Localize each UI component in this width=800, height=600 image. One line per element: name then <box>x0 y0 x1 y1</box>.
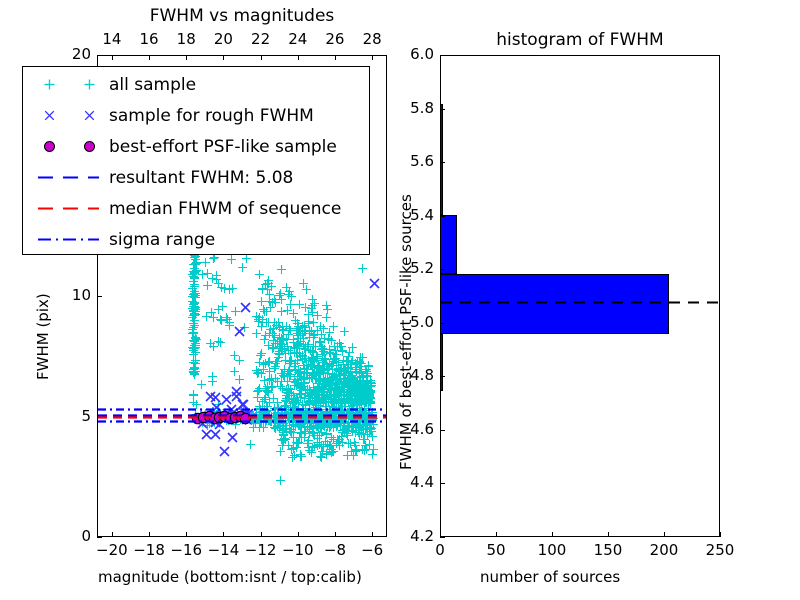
legend-marker-plus-marker <box>23 78 109 91</box>
data-point-all-sample <box>276 476 285 485</box>
data-point-all-sample <box>202 312 211 321</box>
data-point-all-sample <box>354 426 363 435</box>
data-point-all-sample <box>330 383 339 392</box>
data-point-all-sample <box>231 307 240 316</box>
data-point-all-sample <box>308 295 317 304</box>
data-point-all-sample <box>289 433 298 442</box>
data-point-all-sample <box>298 355 307 364</box>
data-point-all-sample <box>283 306 292 315</box>
scatter-title: FWHM vs magnitudes <box>97 6 387 26</box>
histogram-x-tick <box>496 532 497 537</box>
data-point-all-sample <box>296 390 305 399</box>
scatter-top-tick-label: 22 <box>248 30 274 48</box>
data-point-all-sample <box>230 351 239 360</box>
scatter-bottom-tick <box>298 532 299 537</box>
data-point-all-sample <box>315 382 324 391</box>
scatter-bottom-tick-label: −10 <box>280 541 316 559</box>
legend-label-2: best-effort PSF-like sample <box>109 137 337 157</box>
data-point-all-sample <box>352 446 361 455</box>
scatter-bottom-tick-label: −18 <box>131 541 167 559</box>
data-point-all-sample <box>265 290 274 299</box>
scatter-top-tick-label: 26 <box>322 30 348 48</box>
data-point-all-sample <box>279 371 288 380</box>
data-point-all-sample <box>252 329 261 338</box>
scatter-left-tick <box>97 296 102 297</box>
data-point-all-sample <box>197 380 206 389</box>
scatter-top-tick <box>372 55 373 60</box>
histogram-x-tick <box>664 532 665 537</box>
data-point-all-sample <box>225 321 234 330</box>
data-point-all-sample <box>368 432 377 441</box>
scatter-top-tick-label: 28 <box>359 30 385 48</box>
histogram-y-tick <box>440 376 445 377</box>
data-point-all-sample <box>295 300 304 309</box>
legend-label-0: all sample <box>109 75 196 95</box>
histogram-bar[interactable] <box>441 104 443 215</box>
scatter-left-tick-label: 5 <box>57 407 91 425</box>
histogram-y-tick-label: 6.0 <box>392 45 434 63</box>
scatter-bottom-tick-label: −6 <box>354 541 390 559</box>
data-point-all-sample <box>257 369 266 378</box>
histogram-y-tick <box>440 162 445 163</box>
scatter-bottom-tick <box>186 532 187 537</box>
data-point-all-sample <box>348 343 357 352</box>
histogram-y-tick-label: 4.4 <box>392 473 434 491</box>
data-point-all-sample <box>299 279 308 288</box>
legend-item-4[interactable]: median FHWM of sequence <box>23 193 369 224</box>
histogram-x-tick <box>552 532 553 537</box>
scatter-top-tick-label: 16 <box>136 30 162 48</box>
scatter-legend[interactable]: all samplesample for rough FWHMbest-effo… <box>22 66 370 255</box>
data-point-all-sample <box>333 342 342 351</box>
data-point-all-sample <box>322 313 331 322</box>
histogram-x-tick-label: 50 <box>476 541 516 559</box>
histogram-ylabel: FWHM of best-effort PSF-like sources <box>397 194 415 470</box>
scatter-top-tick <box>335 55 336 60</box>
histogram-y-tick <box>440 55 445 56</box>
data-point-all-sample <box>230 367 239 376</box>
scatter-bottom-tick <box>261 532 262 537</box>
data-point-all-sample <box>304 310 313 319</box>
histogram-xlabel: number of sources <box>480 568 620 586</box>
data-point-all-sample <box>209 342 218 351</box>
data-point-all-sample <box>314 374 323 383</box>
scatter-bottom-tick <box>223 532 224 537</box>
data-point-all-sample <box>228 284 237 293</box>
data-point-all-sample <box>322 301 331 310</box>
data-point-all-sample <box>313 441 322 450</box>
data-point-all-sample <box>252 312 261 321</box>
data-point-all-sample <box>334 366 343 375</box>
data-point-all-sample <box>324 364 333 373</box>
data-point-all-sample <box>208 372 217 381</box>
data-point-rough-fwhm <box>234 326 245 337</box>
data-point-all-sample <box>216 315 225 324</box>
scatter-top-tick-label: 20 <box>210 30 236 48</box>
data-point-all-sample <box>311 342 320 351</box>
histogram-y-tick <box>440 537 445 538</box>
data-point-all-sample <box>189 277 198 286</box>
scatter-bottom-tick-label: −8 <box>317 541 353 559</box>
scatter-top-tick <box>149 55 150 60</box>
data-point-all-sample <box>275 347 284 356</box>
figure-canvas: FWHM vs magnitudes 1416182022242628 −20−… <box>0 0 800 600</box>
legend-label-3: resultant FWHM: 5.08 <box>109 168 293 188</box>
data-point-all-sample <box>277 265 286 274</box>
histogram-x-tick-label: 100 <box>532 541 572 559</box>
legend-marker-circle-marker <box>23 140 109 153</box>
data-point-rough-fwhm <box>231 386 242 397</box>
scatter-left-tick-label: 0 <box>57 527 91 545</box>
scatter-left-tick-label: 20 <box>57 45 91 63</box>
data-point-all-sample <box>190 321 199 330</box>
scatter-top-tick <box>298 55 299 60</box>
histogram-x-tick-label: 150 <box>588 541 628 559</box>
data-point-all-sample <box>190 369 199 378</box>
scatter-hline-3 <box>98 420 386 423</box>
data-point-all-sample <box>329 322 338 331</box>
data-point-rough-fwhm <box>240 302 251 313</box>
scatter-top-tick <box>112 55 113 60</box>
data-point-all-sample <box>227 255 236 264</box>
histogram-y-tick <box>440 483 445 484</box>
legend-item-3[interactable]: resultant FWHM: 5.08 <box>23 162 369 193</box>
histogram-x-tick-label: 200 <box>644 541 684 559</box>
data-point-all-sample <box>320 334 329 343</box>
histogram-y-tick <box>440 269 445 270</box>
scatter-bottom-tick <box>372 532 373 537</box>
histogram-title: histogram of FWHM <box>440 30 720 50</box>
data-point-all-sample <box>265 329 274 338</box>
histogram-bar[interactable] <box>441 334 443 390</box>
data-point-all-sample <box>263 279 272 288</box>
data-point-all-sample <box>368 450 377 459</box>
data-point-all-sample <box>357 368 366 377</box>
data-point-all-sample <box>217 283 226 292</box>
data-point-all-sample <box>192 258 201 267</box>
scatter-xlabel: magnitude (bottom:isnt / top:calib) <box>98 568 362 586</box>
data-point-all-sample <box>201 258 210 267</box>
scatter-top-tick <box>186 55 187 60</box>
scatter-bottom-tick-label: −14 <box>205 541 241 559</box>
data-point-all-sample <box>285 388 294 397</box>
data-point-all-sample <box>301 342 310 351</box>
data-point-rough-fwhm <box>369 278 380 289</box>
legend-label-1: sample for rough FWHM <box>109 106 314 126</box>
legend-marker-dashdot-line <box>23 233 109 246</box>
data-point-all-sample <box>190 341 199 350</box>
histogram-bar[interactable] <box>441 274 669 334</box>
scatter-top-tick-label: 24 <box>285 30 311 48</box>
histogram-bar[interactable] <box>441 215 457 274</box>
data-point-all-sample <box>209 254 218 263</box>
scatter-hline-1 <box>98 416 386 419</box>
data-point-all-sample <box>281 356 290 365</box>
legend-item-5[interactable]: sigma range <box>23 224 369 255</box>
data-point-rough-fwhm <box>227 432 238 443</box>
data-point-all-sample <box>341 425 350 434</box>
scatter-bottom-tick <box>112 532 113 537</box>
data-point-all-sample <box>190 310 199 319</box>
scatter-left-tick <box>97 55 102 56</box>
data-point-all-sample <box>246 440 255 449</box>
data-point-all-sample <box>284 290 293 299</box>
data-point-all-sample <box>235 375 244 384</box>
scatter-top-tick-label: 18 <box>173 30 199 48</box>
data-point-all-sample <box>340 327 349 336</box>
data-point-all-sample <box>191 359 200 368</box>
data-point-all-sample <box>255 384 264 393</box>
data-point-rough-fwhm <box>219 446 230 457</box>
histogram-y-tick-label: 5.6 <box>392 152 434 170</box>
histogram-hline-0 <box>441 301 719 304</box>
data-point-all-sample <box>190 298 199 307</box>
histogram-y-tick <box>440 216 445 217</box>
legend-item-1[interactable]: sample for rough FWHM <box>23 100 369 131</box>
data-point-rough-fwhm <box>201 429 212 440</box>
legend-marker-dashed-line <box>23 171 109 184</box>
histogram-y-tick <box>440 109 445 110</box>
scatter-top-tick <box>261 55 262 60</box>
data-point-all-sample <box>364 385 373 394</box>
data-point-all-sample <box>296 452 305 461</box>
data-point-all-sample <box>189 398 198 407</box>
data-point-all-sample <box>298 329 307 338</box>
legend-label-5: sigma range <box>109 230 215 250</box>
data-point-all-sample <box>319 390 328 399</box>
scatter-top-tick <box>223 55 224 60</box>
scatter-left-tick-label: 10 <box>57 286 91 304</box>
data-point-all-sample <box>262 307 271 316</box>
histogram-x-tick-label: 250 <box>700 541 740 559</box>
legend-item-0[interactable]: all sample <box>23 69 369 100</box>
data-point-all-sample <box>305 429 314 438</box>
data-point-rough-fwhm <box>205 391 216 402</box>
data-point-all-sample <box>358 264 367 273</box>
data-point-all-sample <box>307 327 316 336</box>
scatter-bottom-tick <box>149 532 150 537</box>
scatter-bottom-tick-label: −12 <box>243 541 279 559</box>
data-point-all-sample <box>282 335 291 344</box>
scatter-top-tick-label: 14 <box>99 30 125 48</box>
scatter-bottom-tick-label: −20 <box>94 541 130 559</box>
histogram-y-tick <box>440 430 445 431</box>
data-point-all-sample <box>317 428 326 437</box>
data-point-all-sample <box>214 305 223 314</box>
scatter-left-tick <box>97 537 102 538</box>
scatter-hline-2 <box>98 408 386 411</box>
scatter-bottom-tick-label: −16 <box>168 541 204 559</box>
legend-item-2[interactable]: best-effort PSF-like sample <box>23 131 369 162</box>
histogram-y-tick <box>440 323 445 324</box>
histogram-x-tick <box>720 532 721 537</box>
scatter-bottom-tick <box>335 532 336 537</box>
histogram-data-layer <box>441 56 719 536</box>
histogram-x-tick <box>608 532 609 537</box>
histogram-y-tick-label: 5.8 <box>392 99 434 117</box>
scatter-ylabel: FWHM (pix) <box>34 293 52 380</box>
data-point-all-sample <box>351 380 360 389</box>
legend-label-4: median FHWM of sequence <box>109 199 341 219</box>
legend-marker-cross-marker <box>23 109 109 122</box>
data-point-all-sample <box>296 369 305 378</box>
data-point-all-sample <box>203 269 212 278</box>
histogram-y-tick-label: 4.2 <box>392 527 434 545</box>
data-point-all-sample <box>353 358 362 367</box>
data-point-all-sample <box>334 437 343 446</box>
histogram-axes[interactable] <box>440 55 720 537</box>
legend-marker-dashed-line <box>23 202 109 215</box>
data-point-all-sample <box>238 263 247 272</box>
